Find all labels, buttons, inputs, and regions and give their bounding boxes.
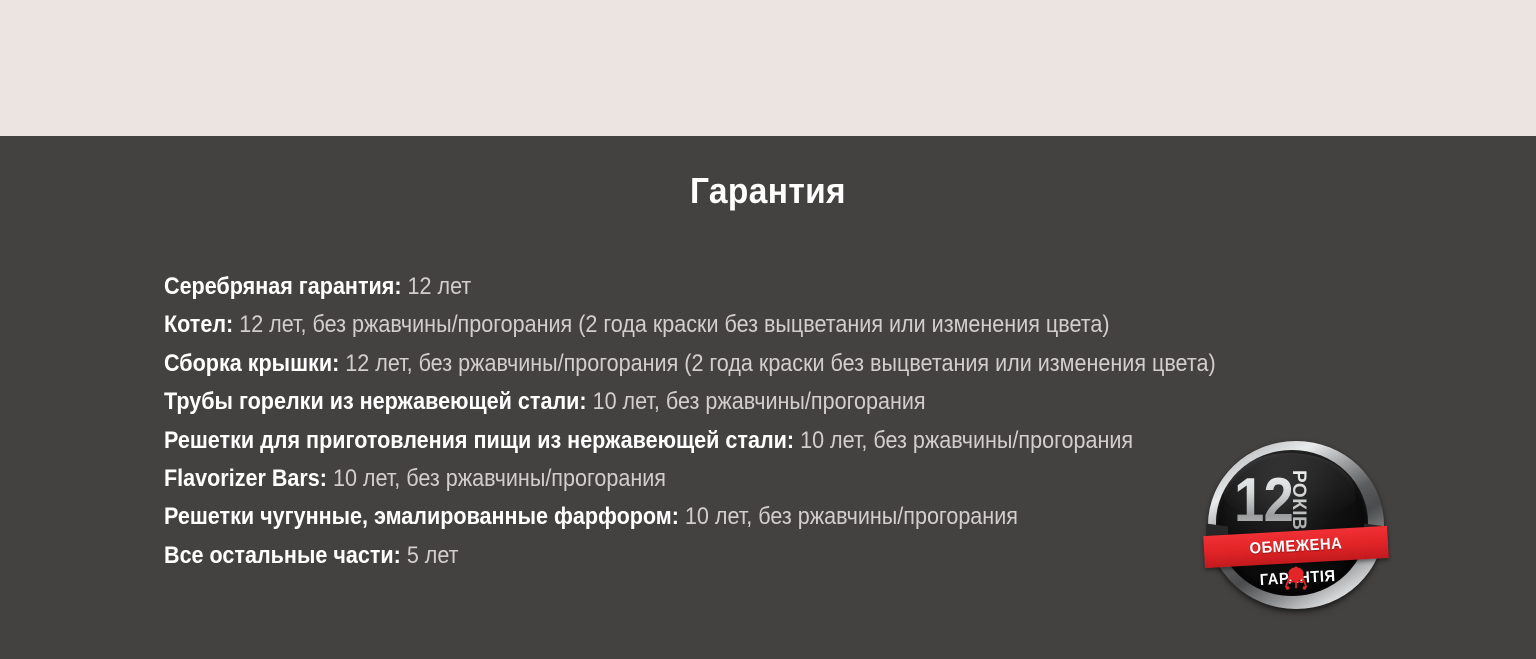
page-root: Гарантия Серебряная гарантия: 12 лет Кот… <box>0 0 1536 659</box>
warranty-label: Все остальные части: <box>164 542 401 569</box>
warranty-label: Flavorizer Bars: <box>164 465 327 492</box>
list-item: Серебряная гарантия: 12 лет <box>164 268 1062 306</box>
list-item: Решетки чугунные, эмалированные фарфором… <box>164 498 1062 536</box>
warranty-value: 5 лет <box>407 542 459 569</box>
warranty-label: Серебряная гарантия: <box>164 273 402 300</box>
warranty-value: 12 лет, без ржавчины/прогорания (2 года … <box>239 311 1109 338</box>
top-band <box>0 0 1536 136</box>
list-item: Котел: 12 лет, без ржавчины/прогорания (… <box>164 306 1062 344</box>
badge-years-label: РОКІВ <box>1287 470 1309 530</box>
warranty-value: 10 лет, без ржавчины/прогорания <box>800 427 1133 454</box>
ribbon-band: ОБМЕЖЕНА ГАРАНТІЯ <box>1203 526 1388 568</box>
warranty-badge: 12 РОКІВ ОБМЕЖЕНА ГАРАНТІЯ <box>1204 439 1388 611</box>
warranty-label: Сборка крышки: <box>164 350 339 377</box>
warranty-value: 10 лет, без ржавчины/прогорания <box>593 388 926 415</box>
ribbon-label: ОБМЕЖЕНА ГАРАНТІЯ <box>1211 526 1382 567</box>
page-title: Гарантия <box>54 170 1482 212</box>
warranty-list: Серебряная гарантия: 12 лет Котел: 12 ле… <box>164 268 1184 575</box>
warranty-value: 12 лет <box>408 273 472 300</box>
kettle-grill-icon <box>1283 565 1309 591</box>
warranty-label: Решетки чугунные, эмалированные фарфором… <box>164 503 679 530</box>
list-item: Все остальные части: 5 лет <box>164 537 1062 575</box>
warranty-value: 10 лет, без ржавчины/прогорания <box>333 465 666 492</box>
warranty-label: Решетки для приготовления пищи из нержав… <box>164 427 794 454</box>
warranty-label: Трубы горелки из нержавеющей стали: <box>164 388 587 415</box>
list-item: Flavorizer Bars: 10 лет, без ржавчины/пр… <box>164 460 1062 498</box>
list-item: Решетки для приготовления пищи из нержав… <box>164 422 1062 460</box>
warranty-label: Котел: <box>164 311 233 338</box>
warranty-value: 12 лет, без ржавчины/прогорания (2 года … <box>345 350 1215 377</box>
warranty-section: Гарантия Серебряная гарантия: 12 лет Кот… <box>0 136 1536 659</box>
warranty-value: 10 лет, без ржавчины/прогорания <box>685 503 1018 530</box>
list-item: Трубы горелки из нержавеющей стали: 10 л… <box>164 383 1062 421</box>
list-item: Сборка крышки: 12 лет, без ржавчины/прог… <box>164 345 1062 383</box>
badge-ribbon: ОБМЕЖЕНА ГАРАНТІЯ <box>1204 523 1388 569</box>
